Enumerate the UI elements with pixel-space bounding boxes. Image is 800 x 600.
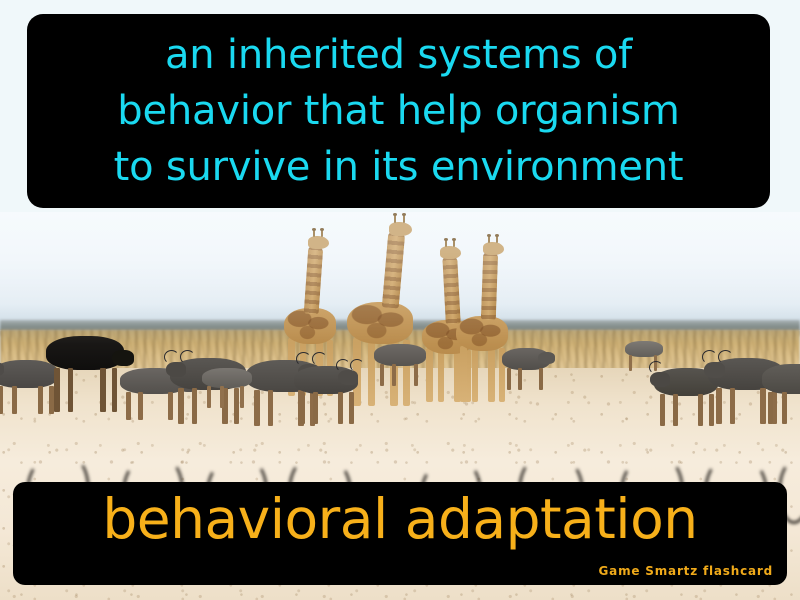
term-label: behavioral adaptation [13, 484, 787, 554]
wildebeest [198, 364, 260, 410]
definition-line-3: to survive in its environment [114, 139, 684, 195]
definition-line-2: behavior that help organism [117, 83, 679, 139]
term-panel: behavioral adaptation Game Smartz flashc… [13, 482, 787, 585]
wildebeest [498, 344, 556, 392]
wildebeest [370, 340, 434, 388]
wildebeest [288, 358, 368, 424]
definition-panel: an inherited systems of behavior that he… [27, 14, 770, 208]
wildebeest [756, 356, 800, 424]
definition-line-1: an inherited systems of [165, 27, 632, 83]
flashcard: an inherited systems of behavior that he… [0, 0, 800, 600]
credit-label: Game Smartz flashcard [599, 564, 773, 578]
